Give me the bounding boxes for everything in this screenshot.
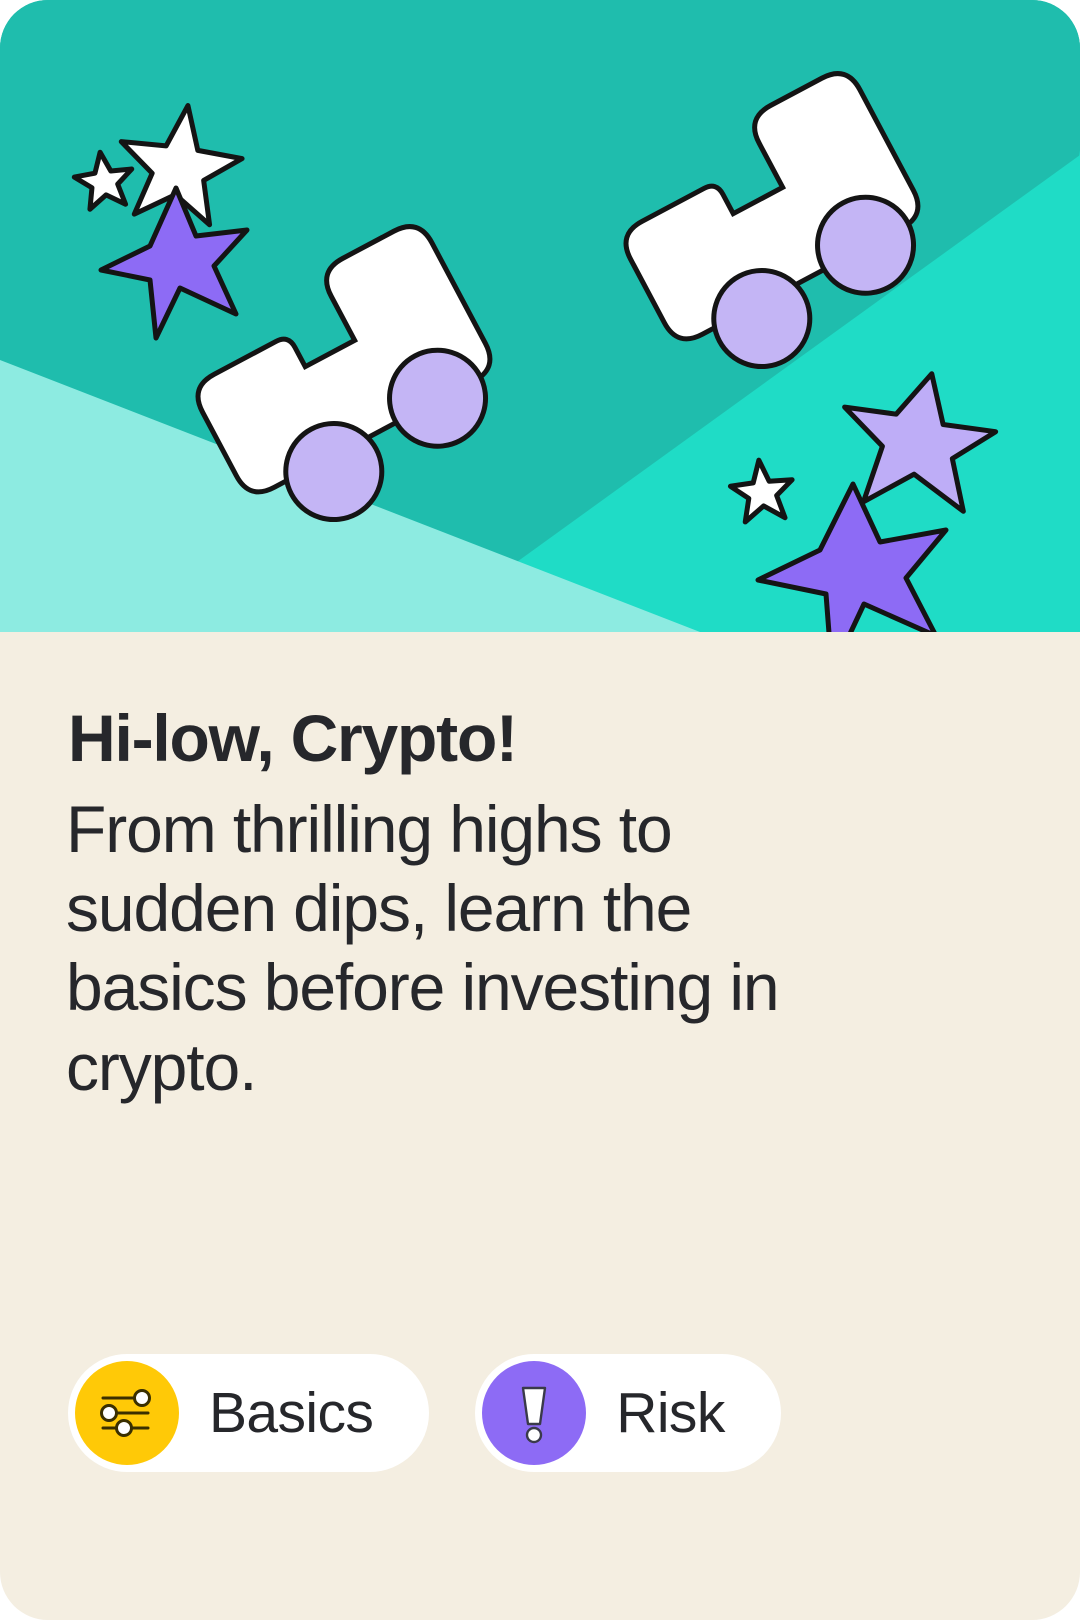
tag-risk[interactable]: Risk bbox=[475, 1354, 780, 1472]
tag-basics-label: Basics bbox=[209, 1385, 373, 1442]
exclamation-mark-icon-glyph bbox=[509, 1382, 559, 1444]
sliders-icon bbox=[75, 1361, 179, 1465]
exclamation-mark-icon bbox=[482, 1361, 586, 1465]
hero-illustration bbox=[0, 0, 1080, 632]
crypto-info-card: Hi-low, Crypto! From thrilling highs to … bbox=[0, 0, 1080, 1620]
sliders-icon-glyph bbox=[96, 1382, 158, 1444]
tag-risk-label: Risk bbox=[616, 1385, 724, 1442]
tag-basics[interactable]: Basics bbox=[68, 1354, 429, 1472]
illustration-canvas bbox=[0, 0, 1080, 632]
tag-list: Basics Risk bbox=[68, 1354, 781, 1472]
page-subtitle: From thrilling highs to sudden dips, lea… bbox=[66, 790, 886, 1107]
page-title: Hi-low, Crypto! bbox=[68, 704, 517, 773]
